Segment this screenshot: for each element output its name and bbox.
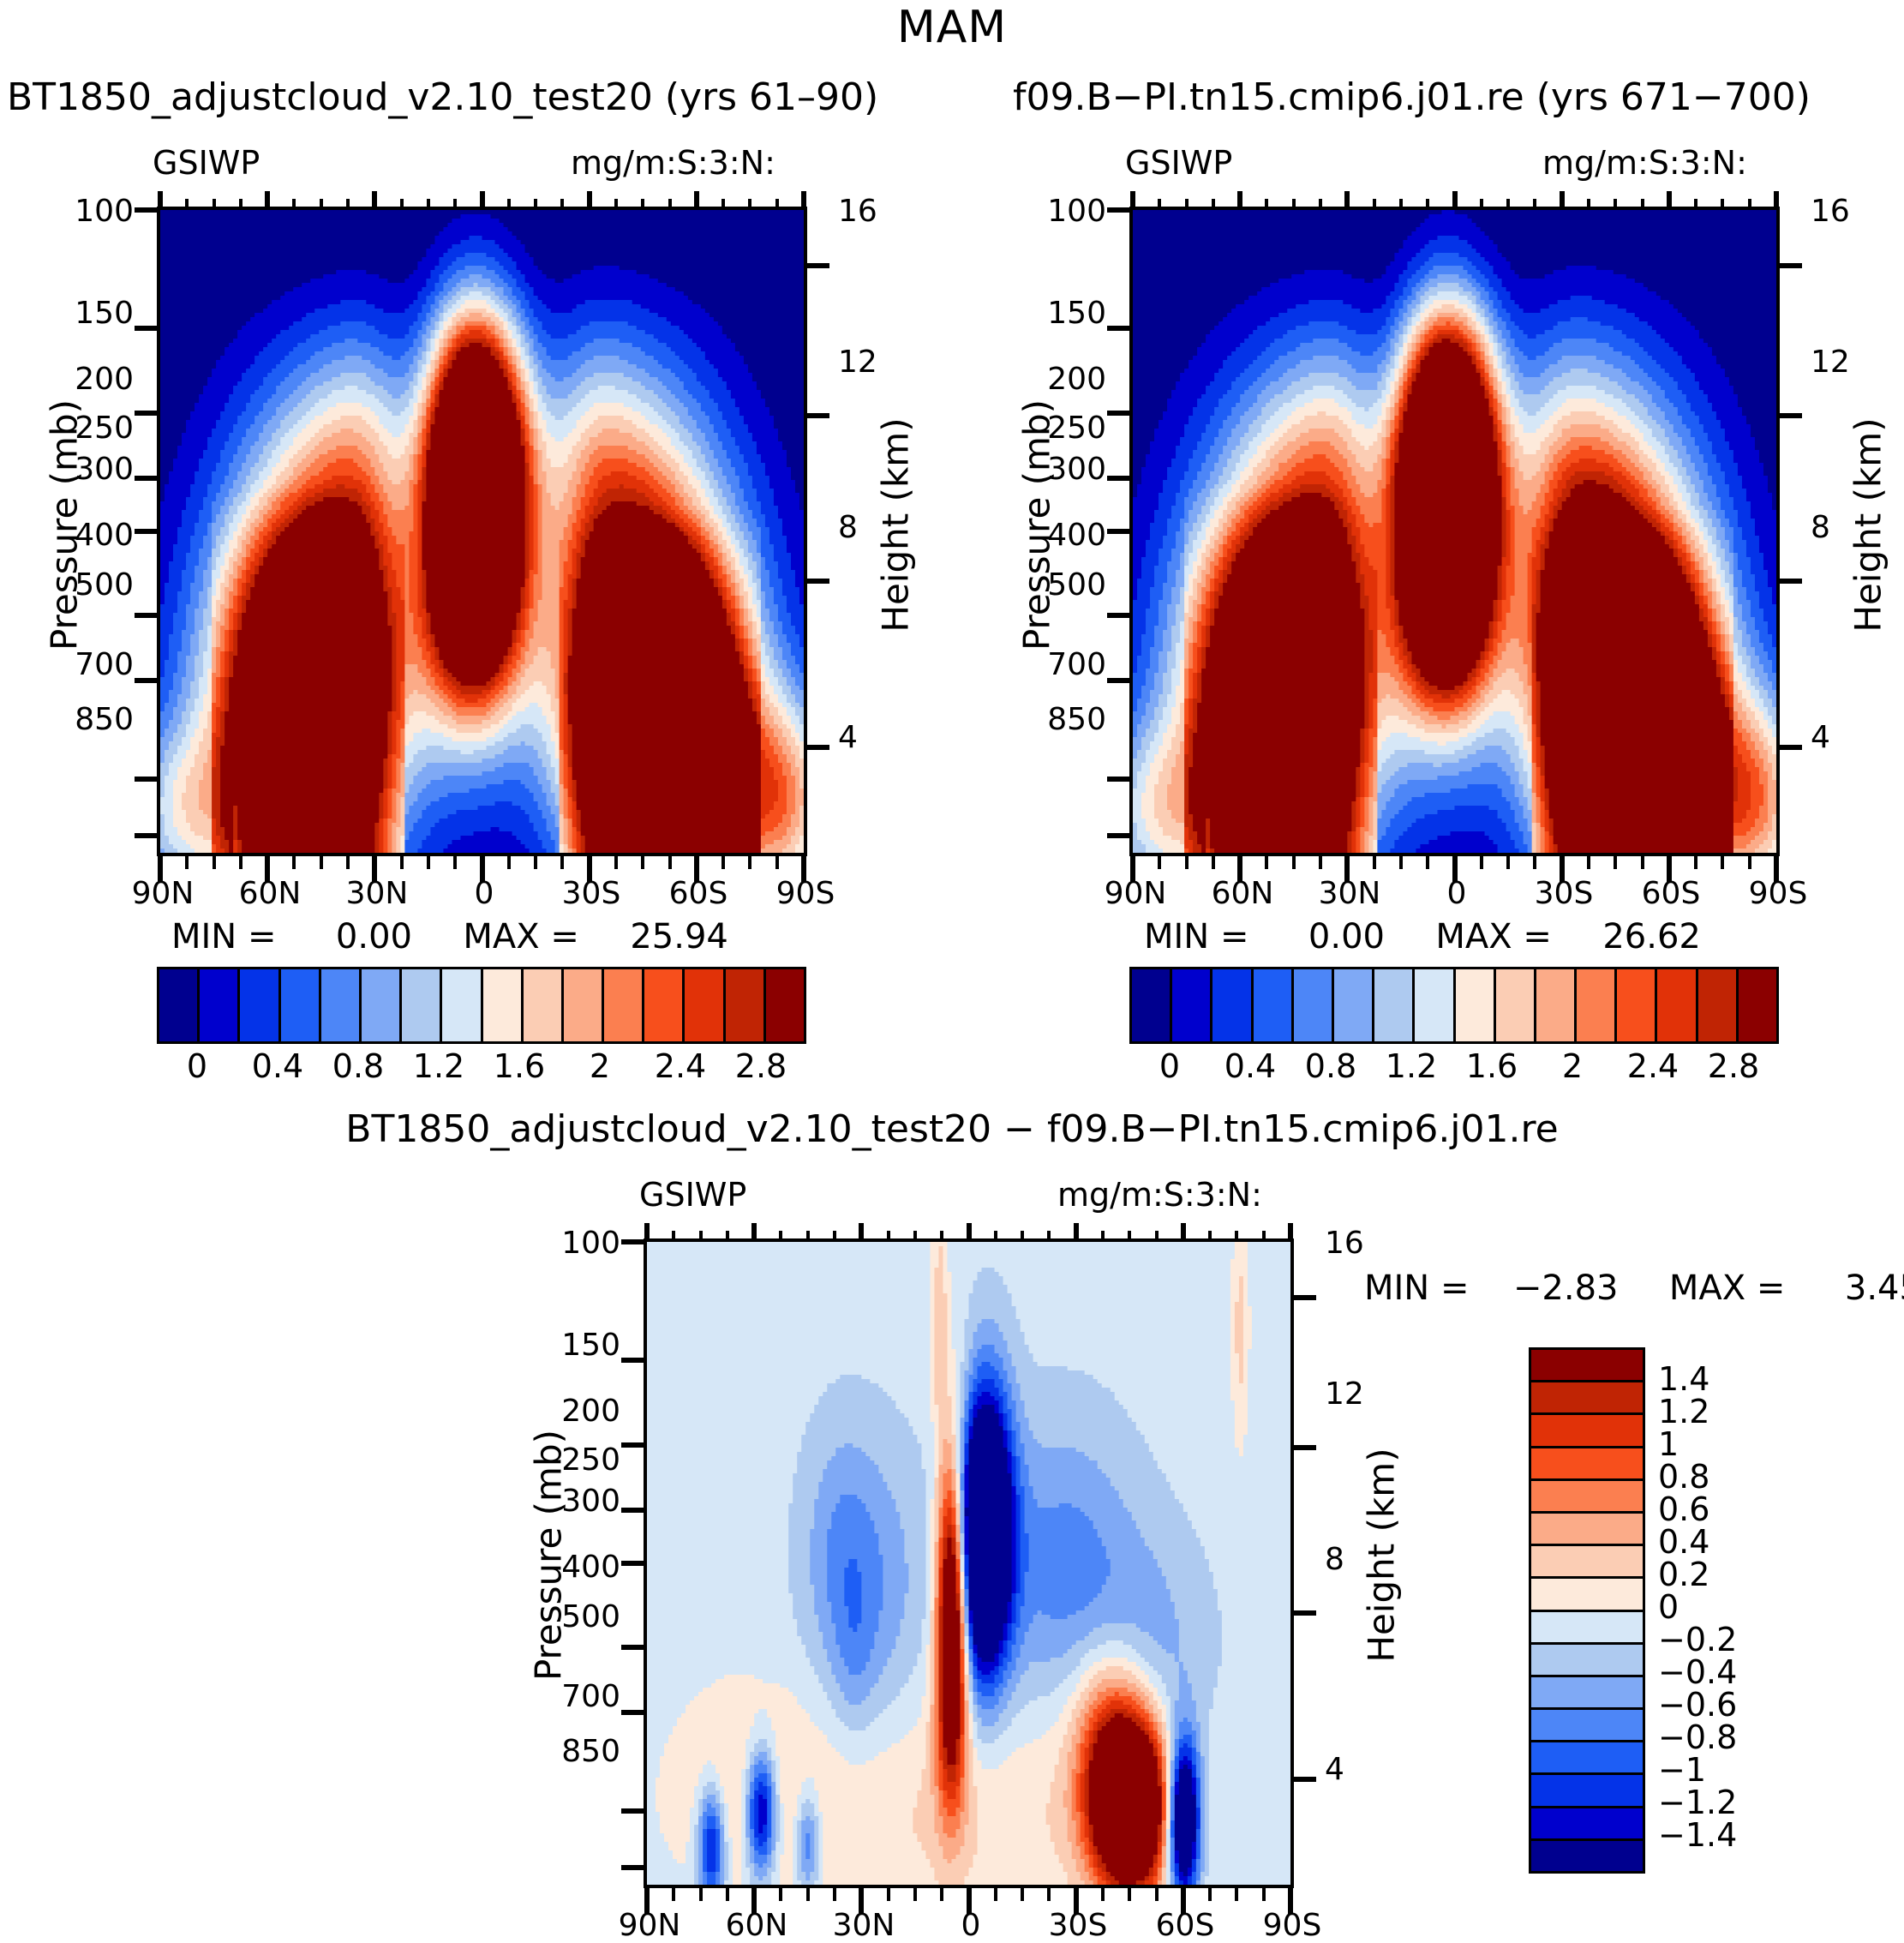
axis-tick: [320, 853, 323, 869]
axis-tick: [1694, 199, 1697, 210]
right-colorbar[interactable]: [1129, 967, 1779, 1044]
left-colorbar-swatch-9: [524, 969, 564, 1041]
right-colorbar-swatch-12: [1617, 969, 1657, 1041]
left-ytick-700: 700: [57, 647, 134, 682]
axis-tick: [1128, 1885, 1131, 1901]
axis-tick: [994, 1885, 997, 1901]
axis-tick: [265, 853, 270, 882]
diff-colorbar-swatch-3: [1531, 1448, 1643, 1481]
right-colorbar-swatch-0: [1132, 969, 1172, 1041]
right-ytick-700: 700: [1029, 647, 1106, 682]
axis-tick: [1237, 191, 1242, 210]
axis-tick: [1101, 1885, 1105, 1901]
axis-tick: [751, 1223, 757, 1242]
left-colorbar-swatch-2: [240, 969, 280, 1041]
axis-tick: [1721, 199, 1724, 210]
diff-y2tick-16: 16: [1325, 1226, 1364, 1261]
left-y2tick-12: 12: [838, 345, 877, 380]
right-max-value: 26.62: [1602, 917, 1701, 957]
axis-tick: [1107, 833, 1133, 838]
left-min-label: MIN =: [171, 917, 276, 957]
axis-tick: [940, 1885, 943, 1901]
axis-tick: [1774, 853, 1779, 882]
right-ytick-150: 150: [1029, 296, 1106, 331]
axis-tick: [135, 529, 160, 534]
axis-tick: [699, 1231, 703, 1242]
axis-tick: [1290, 1295, 1316, 1300]
axis-tick: [1373, 199, 1376, 210]
axis-tick: [239, 853, 242, 869]
diff-max-label: MAX =: [1669, 1268, 1786, 1308]
right-colorbar-swatch-9: [1496, 969, 1536, 1041]
diff-min-label: MIN =: [1364, 1268, 1469, 1308]
axis-tick: [1587, 199, 1590, 210]
diff-ytick-400: 400: [543, 1550, 620, 1585]
axis-tick: [1614, 853, 1617, 869]
axis-tick: [779, 1231, 782, 1242]
left-ytick-150: 150: [57, 296, 134, 331]
diff-ytick-150: 150: [543, 1328, 620, 1363]
diff-colorbar-swatch-10: [1531, 1677, 1643, 1710]
axis-tick: [726, 1885, 729, 1901]
axis-tick: [1208, 1231, 1212, 1242]
right-colorbar-swatch-2: [1212, 969, 1253, 1041]
diff-panel-plot[interactable]: [644, 1238, 1294, 1888]
axis-tick: [1506, 853, 1510, 869]
axis-tick: [621, 1508, 647, 1513]
axis-tick: [621, 1710, 647, 1715]
left-colorbar-swatch-15: [766, 969, 804, 1041]
axis-tick: [1344, 853, 1350, 882]
axis-tick: [721, 199, 725, 210]
left-colorbar-swatch-3: [281, 969, 321, 1041]
right-ytick-500: 500: [1029, 567, 1106, 603]
axis-tick: [1290, 1610, 1316, 1616]
diff-colorbar-tick-14: −1.4: [1658, 1816, 1787, 1854]
axis-tick: [1290, 1445, 1316, 1450]
axis-tick: [1290, 1777, 1316, 1782]
axis-tick: [1047, 1231, 1051, 1242]
right-panel-plot[interactable]: [1129, 207, 1780, 856]
axis-tick: [1452, 853, 1458, 882]
left-colorbar-swatch-14: [726, 969, 766, 1041]
axis-tick: [694, 853, 699, 882]
axis-tick: [775, 853, 779, 869]
diff-colorbar-swatch-8: [1531, 1612, 1643, 1645]
right-colorbar-swatch-4: [1294, 969, 1334, 1041]
axis-tick: [400, 199, 404, 210]
axis-tick: [694, 191, 699, 210]
axis-tick: [1560, 191, 1565, 210]
axis-tick: [1235, 1231, 1238, 1242]
right-xtick-90N: 90N: [1097, 876, 1174, 911]
axis-tick: [1480, 853, 1483, 869]
axis-tick: [1074, 1885, 1079, 1914]
axis-tick: [1776, 745, 1802, 750]
axis-tick: [1130, 853, 1135, 882]
axis-tick: [748, 853, 751, 869]
left-max-value: 25.94: [630, 917, 728, 957]
axis-tick: [1776, 579, 1802, 584]
axis-tick: [621, 1808, 647, 1814]
axis-tick: [135, 207, 160, 213]
axis-tick: [859, 1885, 864, 1914]
axis-tick: [913, 1231, 917, 1242]
axis-tick: [1107, 613, 1133, 618]
diff-y2tick-4: 4: [1325, 1752, 1344, 1787]
axis-tick: [400, 853, 404, 869]
axis-tick: [913, 1885, 917, 1901]
axis-tick: [1614, 199, 1617, 210]
axis-tick: [621, 1561, 647, 1566]
diff-colorbar-swatch-5: [1531, 1514, 1643, 1546]
diff-colorbar-swatch-14: [1531, 1808, 1643, 1841]
axis-tick: [1262, 1231, 1266, 1242]
axis-tick: [1721, 853, 1724, 869]
axis-tick: [1774, 191, 1779, 210]
axis-tick: [587, 853, 592, 882]
left-ytick-100: 100: [57, 194, 134, 229]
axis-tick: [1107, 529, 1133, 534]
axis-tick: [1185, 853, 1189, 869]
axis-tick: [1128, 1231, 1131, 1242]
left-panel-units-label: mg/m:S:3:N:: [571, 144, 775, 182]
diff-colorbar-swatch-1: [1531, 1382, 1643, 1415]
axis-tick: [621, 1645, 647, 1650]
right-colorbar-swatch-13: [1657, 969, 1697, 1041]
diff-colorbar-swatch-0: [1531, 1350, 1643, 1382]
right-max-label: MAX =: [1435, 917, 1552, 957]
diff-ytick-500: 500: [543, 1599, 620, 1634]
axis-tick: [135, 613, 160, 618]
axis-tick: [213, 853, 216, 869]
axis-tick: [833, 1885, 836, 1901]
diff-colorbar-swatch-15: [1531, 1841, 1643, 1871]
axis-tick: [801, 853, 806, 882]
axis-tick: [1319, 199, 1322, 210]
right-colorbar-swatch-7: [1415, 969, 1455, 1041]
left-height-axis-title: Height (km): [875, 388, 917, 663]
axis-tick: [1426, 199, 1429, 210]
left-y2tick-16: 16: [838, 194, 877, 229]
axis-tick: [668, 853, 672, 869]
axis-tick: [534, 853, 537, 869]
axis-tick: [185, 199, 189, 210]
left-ytick-300: 300: [57, 452, 134, 487]
axis-tick: [1748, 853, 1751, 869]
left-colorbar-swatch-8: [483, 969, 524, 1041]
axis-tick: [621, 1358, 647, 1363]
diff-colorbar-swatch-12: [1531, 1742, 1643, 1775]
axis-tick: [1107, 476, 1133, 481]
right-y2tick-8: 8: [1811, 510, 1830, 545]
axis-tick: [641, 853, 644, 869]
right-panel-variable-label: GSIWP: [1125, 144, 1232, 182]
axis-tick: [644, 1885, 650, 1914]
axis-tick: [239, 199, 242, 210]
axis-tick: [1212, 853, 1215, 869]
left-xtick-90N: 90N: [124, 876, 201, 911]
axis-tick: [1399, 853, 1403, 869]
axis-tick: [1694, 853, 1697, 869]
axis-tick: [292, 199, 296, 210]
axis-tick: [1265, 199, 1268, 210]
axis-tick: [372, 853, 377, 882]
diff-colorbar-swatch-9: [1531, 1645, 1643, 1677]
axis-tick: [1506, 199, 1510, 210]
right-colorbar-swatch-14: [1698, 969, 1739, 1041]
left-panel-title: BT1850_adjustcloud_v2.10_test20 (yrs 61–…: [7, 75, 878, 119]
axis-tick: [672, 1231, 675, 1242]
left-ytick-850: 850: [57, 702, 134, 737]
right-ytick-250: 250: [1029, 411, 1106, 446]
left-colorbar-swatch-5: [362, 969, 402, 1041]
axis-tick: [804, 745, 829, 750]
axis-tick: [859, 1223, 864, 1242]
diff-colorbar-swatch-6: [1531, 1546, 1643, 1579]
axis-tick: [806, 1885, 810, 1901]
left-panel-plot[interactable]: [157, 207, 807, 856]
axis-tick: [726, 1231, 729, 1242]
right-y2tick-4: 4: [1811, 720, 1830, 755]
axis-tick: [1235, 1885, 1238, 1901]
axis-tick: [751, 1885, 757, 1914]
axis-tick: [1107, 207, 1133, 213]
axis-tick: [1107, 777, 1133, 782]
axis-tick: [1265, 853, 1268, 869]
axis-tick: [748, 199, 751, 210]
axis-tick: [1426, 853, 1429, 869]
axis-tick: [185, 853, 189, 869]
axis-tick: [644, 1223, 650, 1242]
axis-tick: [1373, 853, 1376, 869]
axis-tick: [427, 853, 430, 869]
axis-tick: [158, 191, 163, 210]
diff-panel-variable-label: GSIWP: [639, 1176, 746, 1214]
axis-tick: [1399, 199, 1403, 210]
axis-tick: [1181, 1223, 1186, 1242]
axis-tick: [967, 1223, 972, 1242]
axis-tick: [833, 1231, 836, 1242]
axis-tick: [135, 678, 160, 683]
diff-min-value: −2.83: [1513, 1268, 1619, 1308]
axis-tick: [1208, 1885, 1212, 1901]
axis-tick: [1748, 199, 1751, 210]
left-colorbar-swatch-4: [321, 969, 362, 1041]
axis-tick: [587, 191, 592, 210]
axis-tick: [1319, 853, 1322, 869]
axis-tick: [135, 411, 160, 416]
right-panel-units-label: mg/m:S:3:N:: [1542, 144, 1747, 182]
axis-tick: [1641, 199, 1644, 210]
right-y2tick-16: 16: [1811, 194, 1850, 229]
axis-tick: [1021, 1231, 1024, 1242]
axis-tick: [621, 1442, 647, 1448]
axis-tick: [801, 191, 806, 210]
right-ytick-850: 850: [1029, 702, 1106, 737]
axis-tick: [804, 263, 829, 268]
left-ytick-400: 400: [57, 518, 134, 553]
left-colorbar-swatch-11: [604, 969, 644, 1041]
axis-tick: [158, 853, 163, 882]
axis-tick: [1130, 191, 1135, 210]
diff-colorbar-swatch-2: [1531, 1415, 1643, 1448]
right-min-value: 0.00: [1308, 917, 1385, 957]
axis-tick: [1107, 411, 1133, 416]
axis-tick: [427, 199, 430, 210]
left-colorbar-swatch-7: [442, 969, 482, 1041]
diff-ytick-300: 300: [543, 1484, 620, 1519]
axis-tick: [1158, 199, 1161, 210]
axis-tick: [614, 853, 618, 869]
left-y2tick-8: 8: [838, 510, 858, 545]
axis-tick: [1262, 1885, 1266, 1901]
axis-tick: [213, 199, 216, 210]
left-min-value: 0.00: [336, 917, 412, 957]
axis-tick: [1560, 853, 1565, 882]
left-max-label: MAX =: [463, 917, 579, 957]
diff-panel-units-label: mg/m:S:3:N:: [1057, 1176, 1262, 1214]
axis-tick: [1288, 1885, 1293, 1914]
axis-tick: [1533, 199, 1536, 210]
left-colorbar-swatch-12: [644, 969, 685, 1041]
axis-tick: [721, 853, 725, 869]
right-colorbar-tick-tick-7: 2.8: [1686, 1047, 1781, 1085]
diff-colorbar-swatch-11: [1531, 1710, 1643, 1742]
diff-ytick-250: 250: [543, 1442, 620, 1478]
left-colorbar[interactable]: [157, 967, 806, 1044]
axis-tick: [1047, 1885, 1051, 1901]
axis-tick: [1107, 326, 1133, 331]
right-colorbar-swatch-8: [1456, 969, 1496, 1041]
right-min-label: MIN =: [1144, 917, 1248, 957]
left-colorbar-swatch-13: [685, 969, 725, 1041]
diff-max-value: 3.45: [1845, 1268, 1904, 1308]
axis-tick: [621, 1865, 647, 1870]
axis-tick: [1185, 199, 1189, 210]
axis-tick: [135, 326, 160, 331]
right-panel-title: f09.B−PI.tn15.cmip6.j01.re (yrs 671−700): [1013, 75, 1811, 119]
axis-tick: [994, 1231, 997, 1242]
left-panel-variable-label: GSIWP: [153, 144, 260, 182]
axis-tick: [804, 579, 829, 584]
diff-ytick-700: 700: [543, 1679, 620, 1714]
axis-tick: [480, 853, 485, 882]
right-colorbar-swatch-1: [1172, 969, 1212, 1041]
axis-tick: [135, 833, 160, 838]
axis-tick: [967, 1885, 972, 1914]
left-ytick-200: 200: [57, 362, 134, 397]
left-colorbar-tick-tick-7: 2.8: [714, 1047, 808, 1085]
left-colorbar-swatch-0: [159, 969, 200, 1041]
axis-tick: [480, 191, 485, 210]
axis-tick: [940, 1231, 943, 1242]
axis-tick: [453, 199, 457, 210]
right-ytick-300: 300: [1029, 452, 1106, 487]
right-colorbar-swatch-6: [1374, 969, 1415, 1041]
left-colorbar-swatch-1: [200, 969, 240, 1041]
axis-tick: [1212, 199, 1215, 210]
axis-tick: [534, 199, 537, 210]
diff-colorbar-swatch-13: [1531, 1775, 1643, 1808]
diff-y2tick-12: 12: [1325, 1376, 1364, 1412]
right-colorbar-swatch-3: [1254, 969, 1294, 1041]
axis-tick: [1074, 1223, 1079, 1242]
diff-ytick-100: 100: [543, 1226, 620, 1261]
axis-tick: [135, 777, 160, 782]
right-ytick-200: 200: [1029, 362, 1106, 397]
diff-colorbar-swatch-7: [1531, 1579, 1643, 1611]
axis-tick: [641, 199, 644, 210]
axis-tick: [806, 1231, 810, 1242]
axis-tick: [560, 199, 564, 210]
axis-tick: [1288, 1223, 1293, 1242]
right-ytick-100: 100: [1029, 194, 1106, 229]
axis-tick: [1237, 853, 1242, 882]
axis-tick: [779, 1885, 782, 1901]
axis-tick: [507, 199, 511, 210]
axis-tick: [1667, 191, 1672, 210]
axis-tick: [887, 1885, 890, 1901]
axis-tick: [699, 1885, 703, 1901]
axis-tick: [672, 1885, 675, 1901]
diff-ytick-850: 850: [543, 1734, 620, 1769]
axis-tick: [621, 1239, 647, 1244]
diff-height-axis-title: Height (km): [1361, 1418, 1403, 1693]
axis-tick: [1776, 413, 1802, 418]
axis-tick: [1101, 1231, 1105, 1242]
axis-tick: [775, 199, 779, 210]
diff-y2tick-8: 8: [1325, 1542, 1344, 1577]
left-ytick-500: 500: [57, 567, 134, 603]
left-y2tick-4: 4: [838, 720, 858, 755]
axis-tick: [1452, 191, 1458, 210]
axis-tick: [1480, 199, 1483, 210]
right-colorbar-swatch-15: [1739, 969, 1776, 1041]
axis-tick: [1667, 853, 1672, 882]
diff-colorbar-swatch-4: [1531, 1481, 1643, 1514]
diff-colorbar[interactable]: [1529, 1347, 1645, 1874]
axis-tick: [1776, 263, 1802, 268]
axis-tick: [1344, 191, 1350, 210]
axis-tick: [1292, 199, 1296, 210]
axis-tick: [346, 199, 350, 210]
left-ytick-250: 250: [57, 411, 134, 446]
axis-tick: [372, 191, 377, 210]
right-colorbar-swatch-11: [1577, 969, 1617, 1041]
right-ytick-400: 400: [1029, 518, 1106, 553]
axis-tick: [1641, 853, 1644, 869]
axis-tick: [507, 853, 511, 869]
right-colorbar-swatch-5: [1334, 969, 1374, 1041]
figure-supertitle: MAM: [0, 2, 1904, 53]
axis-tick: [560, 853, 564, 869]
left-colorbar-swatch-6: [402, 969, 442, 1041]
right-height-axis-title: Height (km): [1847, 388, 1889, 663]
axis-tick: [1533, 853, 1536, 869]
axis-tick: [1292, 853, 1296, 869]
axis-tick: [1155, 1231, 1159, 1242]
axis-tick: [614, 199, 618, 210]
axis-tick: [1155, 1885, 1159, 1901]
axis-tick: [668, 199, 672, 210]
axis-tick: [292, 853, 296, 869]
axis-tick: [1181, 1885, 1186, 1914]
diff-panel-title: BT1850_adjustcloud_v2.10_test20 − f09.B−…: [0, 1107, 1904, 1151]
left-colorbar-swatch-10: [564, 969, 604, 1041]
axis-tick: [1587, 853, 1590, 869]
axis-tick: [804, 413, 829, 418]
